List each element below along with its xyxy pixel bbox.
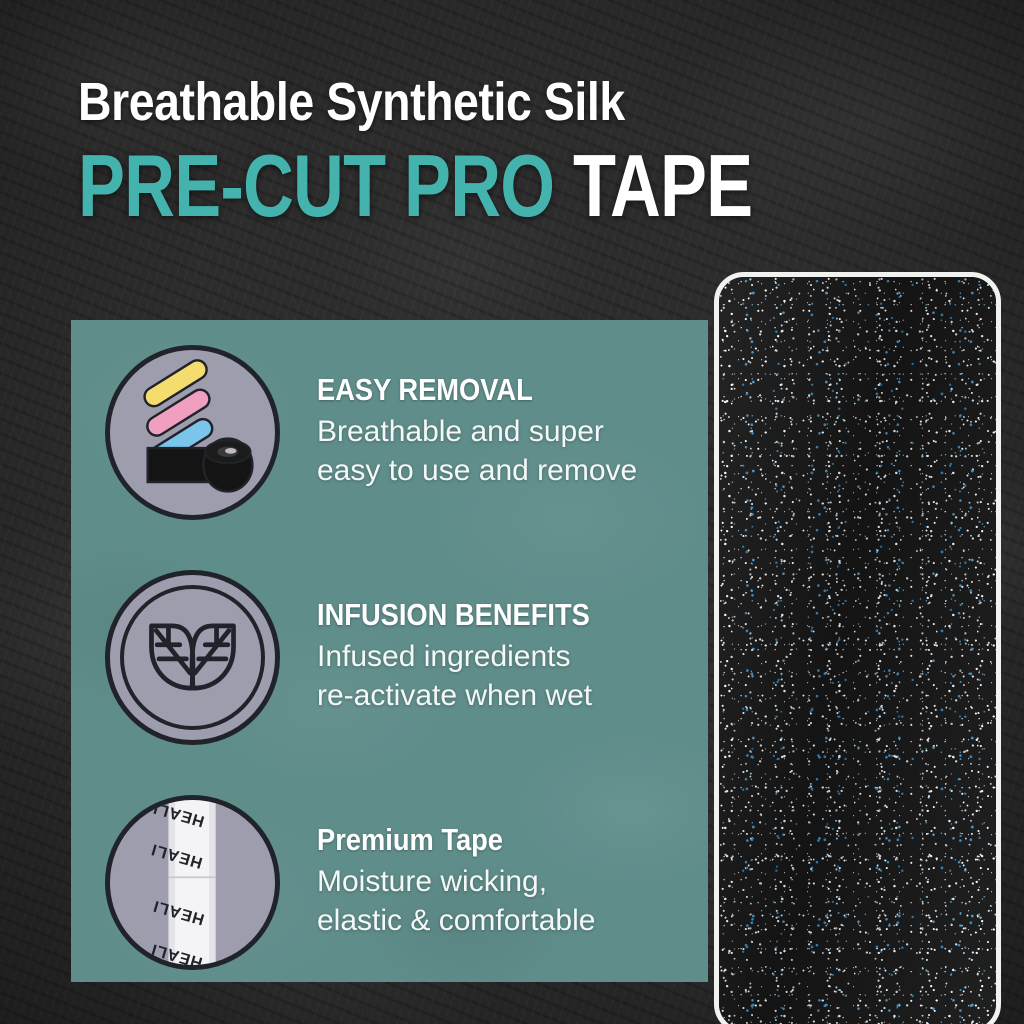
- feature-description: Breathable and super easy to use and rem…: [317, 412, 637, 490]
- tape-strips-and-rolls-icon: [105, 345, 280, 520]
- headline-line-2: PRE-CUT PRO TAPE: [78, 140, 638, 232]
- tape-strips-and-rolls-glyph: [110, 350, 275, 515]
- two-leaves-icon: [105, 570, 280, 745]
- speckled-black-tape-swatch: [714, 272, 1001, 1024]
- feature-title: Premium Tape: [317, 823, 562, 857]
- feature-text-infusion-benefits: INFUSION BENEFITS Infused ingredients re…: [317, 570, 627, 715]
- heali-tape-strip-glyph: HEALI HEALI HEALI HEALI: [110, 800, 275, 965]
- headline-block: Breathable Synthetic Silk PRE-CUT PRO TA…: [78, 74, 778, 232]
- feature-row-infusion-benefits: INFUSION BENEFITS Infused ingredients re…: [105, 570, 627, 745]
- heali-tape-strip-icon: HEALI HEALI HEALI HEALI: [105, 795, 280, 970]
- feature-text-easy-removal: EASY REMOVAL Breathable and super easy t…: [317, 345, 637, 490]
- two-leaves-glyph: [110, 575, 275, 740]
- headline-line-1: Breathable Synthetic Silk: [78, 74, 680, 130]
- feature-title: INFUSION BENEFITS: [317, 598, 590, 632]
- infographic-canvas: Breathable Synthetic Silk PRE-CUT PRO TA…: [0, 0, 1024, 1024]
- headline-accent-text: PRE-CUT PRO: [78, 136, 554, 235]
- feature-title: EASY REMOVAL: [317, 373, 599, 407]
- feature-row-easy-removal: EASY REMOVAL Breathable and super easy t…: [105, 345, 637, 520]
- feature-description: Moisture wicking, elastic & comfortable: [317, 862, 595, 940]
- features-panel: EASY REMOVAL Breathable and super easy t…: [71, 320, 708, 982]
- swatch-speckle-layer-2: [719, 277, 996, 1024]
- headline-plain-text: TAPE: [554, 136, 752, 235]
- feature-description: Infused ingredients re-activate when wet: [317, 637, 627, 715]
- feature-text-premium-tape: Premium Tape Moisture wicking, elastic &…: [317, 795, 595, 940]
- feature-row-premium-tape: HEALI HEALI HEALI HEALI Premium Tape Moi…: [105, 795, 595, 970]
